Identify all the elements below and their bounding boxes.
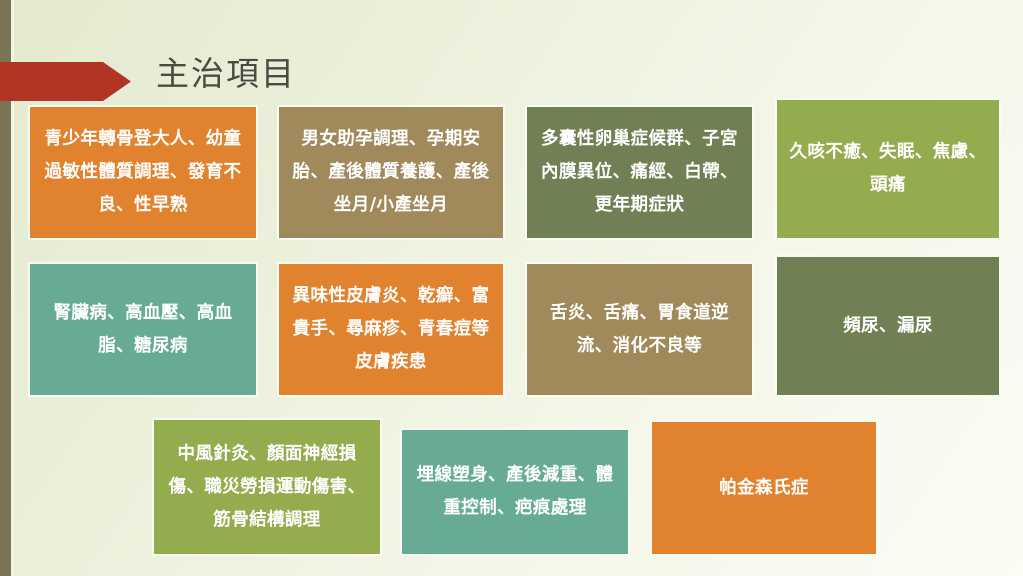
treatment-card-text: 埋線塑身、產後減重、體重控制、疤痕處理 (410, 459, 620, 525)
treatment-card[interactable]: 異味性皮膚炎、乾癬、富貴手、尋麻疹、青春痘等皮膚疾患 (277, 262, 505, 397)
treatment-card[interactable]: 男女助孕調理、孕期安胎、產後體質養護、產後坐月/小產坐月 (277, 105, 505, 240)
title-arrow-banner (0, 62, 131, 101)
treatment-card-text: 帕金森氏症 (660, 472, 868, 505)
treatment-card[interactable]: 舌炎、舌痛、胃食道逆流、消化不良等 (525, 262, 754, 397)
treatment-card-text: 青少年轉骨登大人、幼童過敏性體質調理、發育不良、性早熟 (38, 123, 248, 222)
treatment-card-text: 多囊性卵巢症候群、子宮內膜異位、痛經、白帶、更年期症狀 (535, 123, 744, 222)
treatment-card-text: 中風針灸、顏面神經損傷、職災勞損運動傷害、筋骨結構調理 (162, 438, 372, 537)
page-title: 主治項目 (156, 52, 296, 96)
treatment-card[interactable]: 中風針灸、顏面神經損傷、職災勞損運動傷害、筋骨結構調理 (152, 418, 382, 556)
treatment-card[interactable]: 久咳不癒、失眠、焦慮、頭痛 (775, 98, 1001, 240)
treatment-card[interactable]: 頻尿、漏尿 (775, 255, 1001, 397)
treatment-card-text: 頻尿、漏尿 (785, 310, 991, 343)
treatment-card-text: 久咳不癒、失眠、焦慮、頭痛 (785, 136, 991, 202)
treatment-card-text: 腎臟病、高血壓、高血脂、糖尿病 (38, 297, 248, 363)
treatment-card[interactable]: 多囊性卵巢症候群、子宮內膜異位、痛經、白帶、更年期症狀 (525, 105, 754, 240)
treatment-card[interactable]: 埋線塑身、產後減重、體重控制、疤痕處理 (400, 428, 630, 556)
treatment-card[interactable]: 帕金森氏症 (650, 420, 878, 556)
treatment-card-text: 舌炎、舌痛、胃食道逆流、消化不良等 (535, 297, 744, 363)
treatment-card[interactable]: 腎臟病、高血壓、高血脂、糖尿病 (28, 262, 258, 397)
slide-canvas: 主治項目 青少年轉骨登大人、幼童過敏性體質調理、發育不良、性早熟 男女助孕調理、… (0, 0, 1023, 576)
treatment-card-text: 男女助孕調理、孕期安胎、產後體質養護、產後坐月/小產坐月 (287, 123, 495, 222)
treatment-card[interactable]: 青少年轉骨登大人、幼童過敏性體質調理、發育不良、性早熟 (28, 105, 258, 240)
treatment-card-text: 異味性皮膚炎、乾癬、富貴手、尋麻疹、青春痘等皮膚疾患 (287, 280, 495, 379)
